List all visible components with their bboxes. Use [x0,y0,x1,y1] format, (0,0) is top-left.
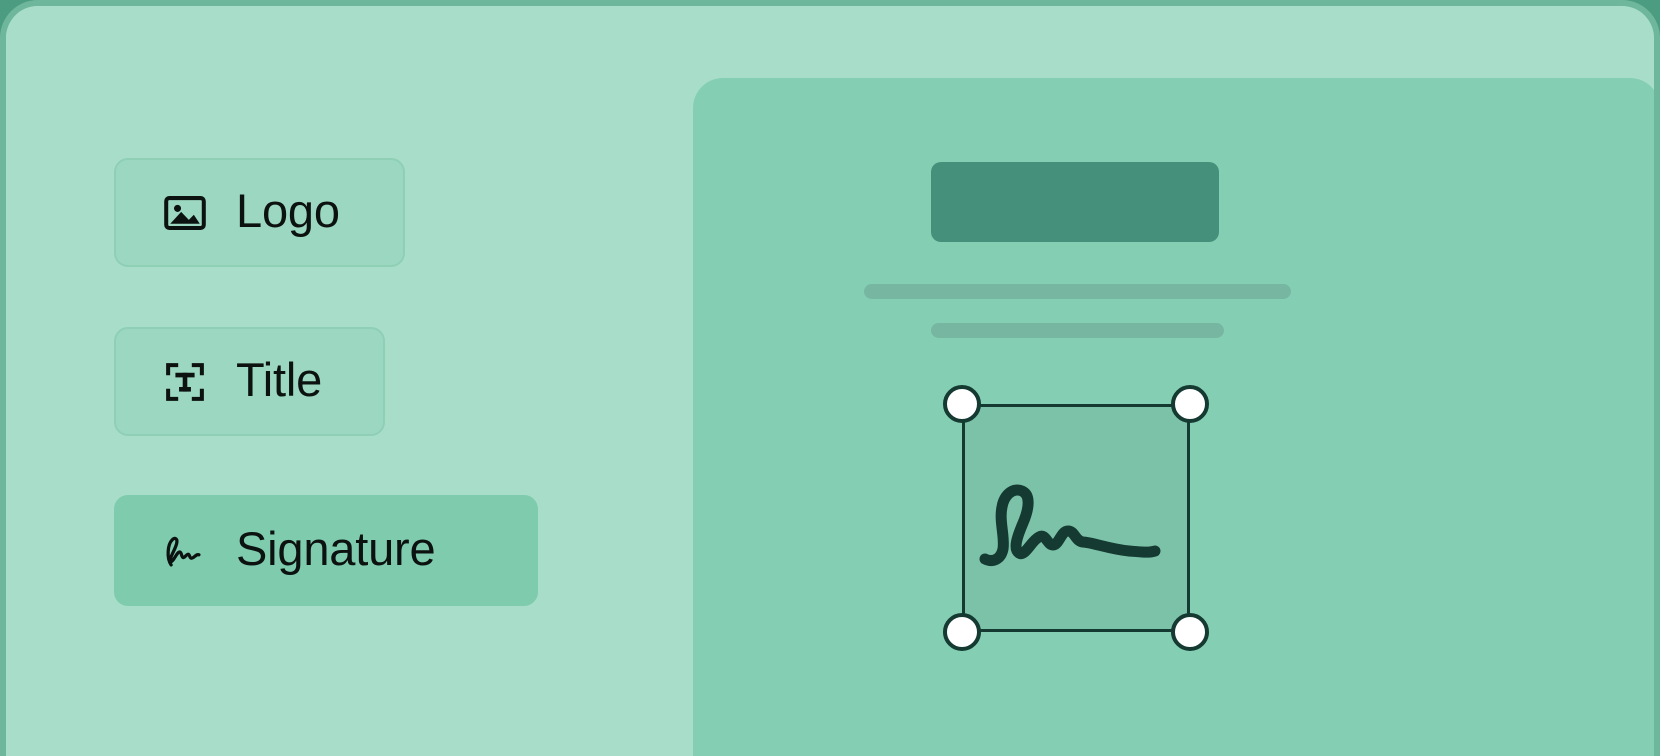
tool-button-signature-label: Signature [236,525,435,572]
bottom-right-handle[interactable] [1171,613,1209,651]
app-window: Logo Title Sig [0,0,1660,756]
signature-icon [162,528,208,574]
logo-placeholder[interactable] [931,162,1219,242]
subtitle-placeholder-line[interactable] [931,323,1224,338]
tool-rail: Logo Title Sig [6,6,693,756]
signature-field-selection[interactable] [962,404,1190,632]
signature-stroke [979,475,1179,575]
title-placeholder-line[interactable] [864,284,1291,299]
tool-button-signature[interactable]: Signature [114,495,538,606]
text-cursor-icon [162,359,208,405]
bottom-left-handle[interactable] [943,613,981,651]
tool-button-logo[interactable]: Logo [114,158,405,267]
image-icon [162,190,208,236]
document-preview-panel[interactable] [693,78,1660,756]
tool-button-logo-label: Logo [236,187,340,234]
top-left-handle[interactable] [943,385,981,423]
tool-button-title[interactable]: Title [114,327,385,436]
top-right-handle[interactable] [1171,385,1209,423]
tool-button-title-label: Title [236,356,322,403]
signature-field-box[interactable] [962,404,1190,632]
